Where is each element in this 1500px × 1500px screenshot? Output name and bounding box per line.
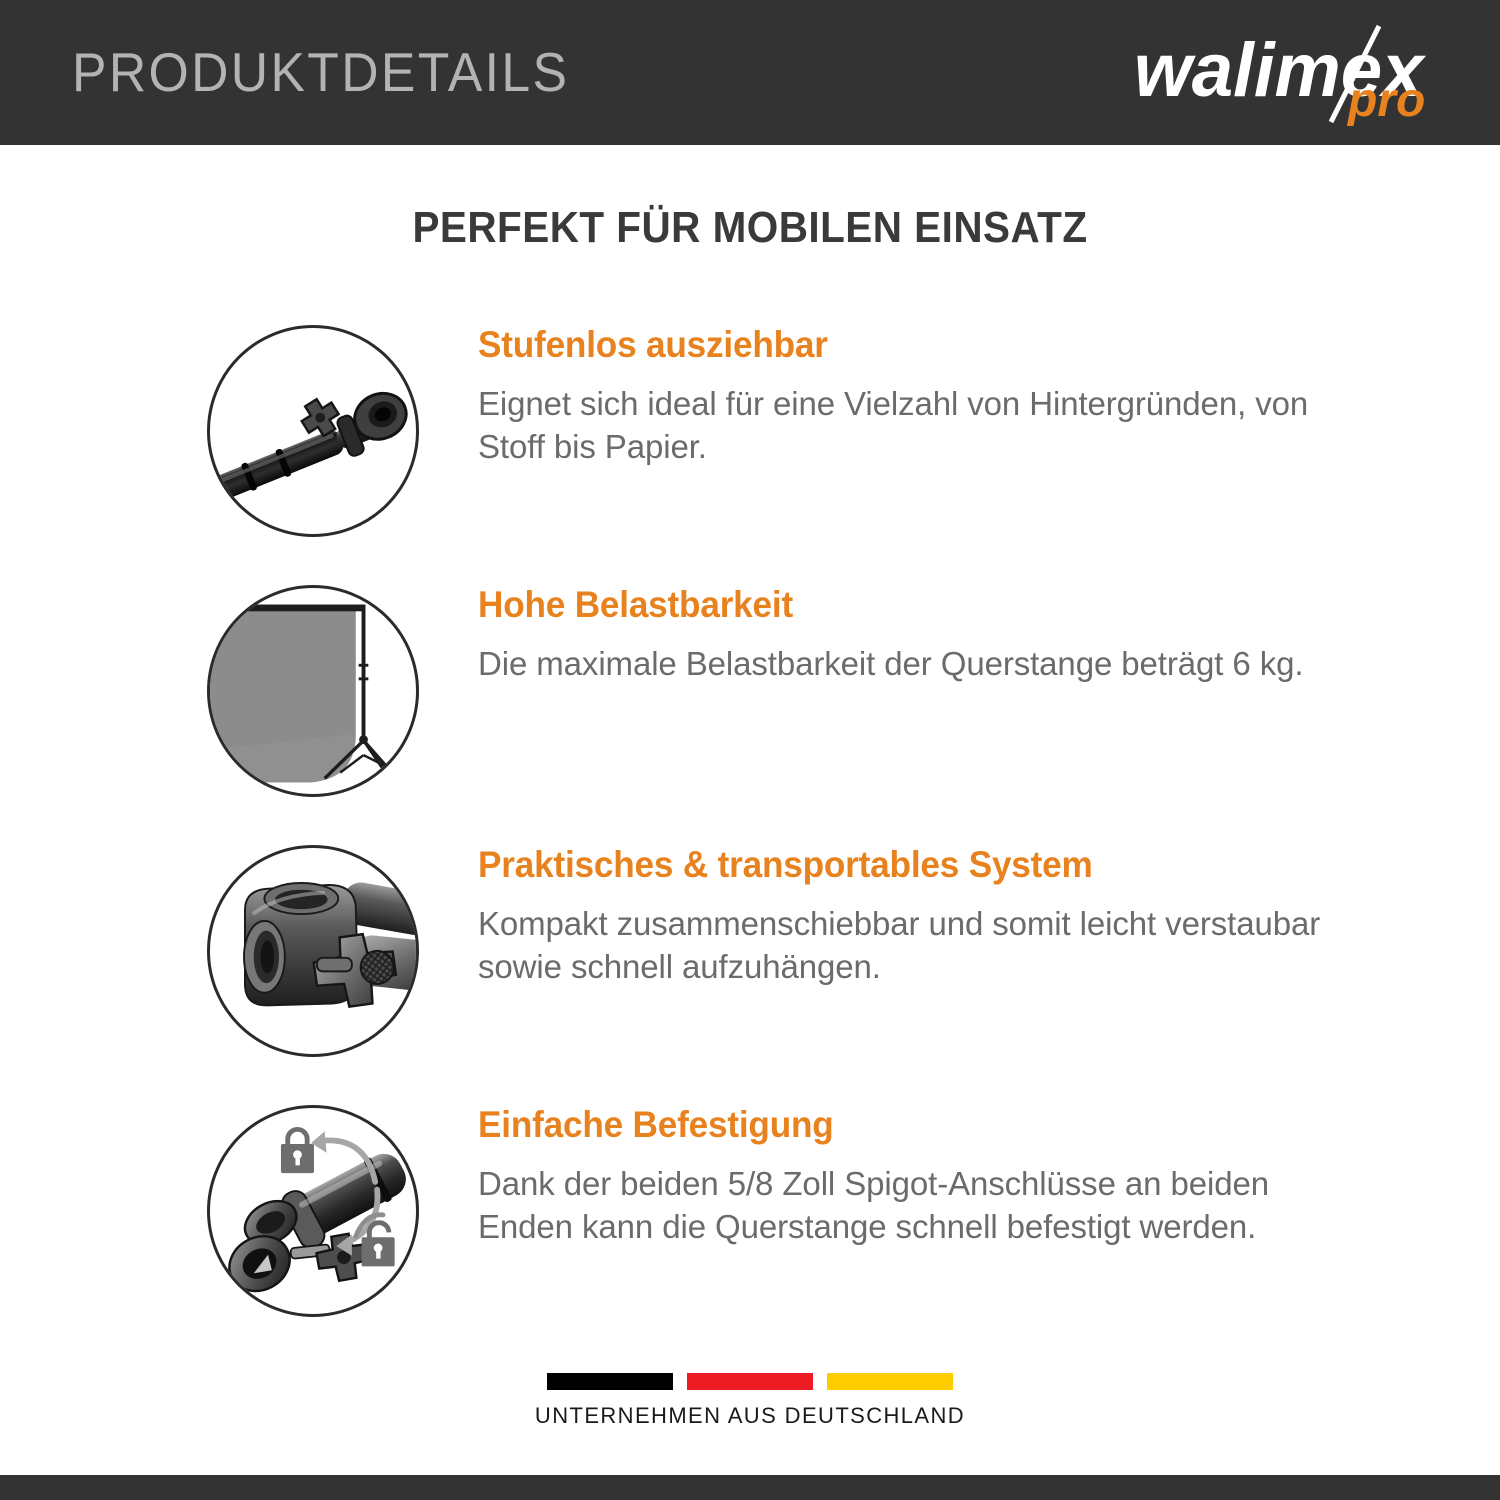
footer-caption: UNTERNEHMEN AUS DEUTSCHLAND [0,1403,1500,1429]
feature-text-block: Einfache Befestigung Dank der beiden 5/8… [478,1105,1338,1249]
backdrop-on-stand-icon [207,585,419,797]
feature-item: Praktisches & transportables System Komp… [0,835,1500,1095]
feature-text-block: Praktisches & transportables System Komp… [478,845,1338,989]
spigot-lock-icon [207,1105,419,1317]
flag-stripe-gold [827,1373,953,1390]
feature-item: Stufenlos ausziehbar Eignet sich ideal f… [0,315,1500,575]
lock-closed-icon [281,1129,314,1173]
feature-body: Die maximale Belastbarkeit der Querstang… [478,642,1338,686]
footer-origin-badge: UNTERNEHMEN AUS DEUTSCHLAND [0,1373,1500,1429]
feature-item: Einfache Befestigung Dank der beiden 5/8… [0,1095,1500,1355]
feature-body: Dank der beiden 5/8 Zoll Spigot-Anschlüs… [478,1162,1338,1249]
page-bottom-bar [0,1475,1500,1500]
feature-heading: Stufenlos ausziehbar [478,325,1295,366]
section-title: PERFEKT FÜR MOBILEN EINSATZ [60,203,1440,253]
page-header: PRODUKTDETAILS walimex pro [0,0,1500,145]
german-flag-icon [0,1373,1500,1390]
feature-text-block: Hohe Belastbarkeit Die maximale Belastba… [478,585,1338,685]
feature-item: Hohe Belastbarkeit Die maximale Belastba… [0,575,1500,835]
flag-stripe-black [547,1373,673,1390]
feature-heading: Praktisches & transportables System [478,845,1295,886]
feature-body: Kompakt zusammenschiebbar und somit leic… [478,902,1338,989]
feature-heading: Hohe Belastbarkeit [478,585,1295,626]
logo-suffix-text: pro [1346,74,1425,127]
main-content: PERFEKT FÜR MOBILEN EINSATZ [0,145,1500,1475]
telescopic-crossbar-icon [207,325,419,537]
feature-body: Eignet sich ideal für eine Vielzahl von … [478,382,1338,469]
page-title: PRODUKTDETAILS [72,45,569,100]
flag-stripe-red [687,1373,813,1390]
feature-heading: Einfache Befestigung [478,1105,1295,1146]
walimex-pro-logo: walimex pro [1126,18,1456,128]
clamp-joint-icon [207,845,419,1057]
feature-text-block: Stufenlos ausziehbar Eignet sich ideal f… [478,325,1338,469]
